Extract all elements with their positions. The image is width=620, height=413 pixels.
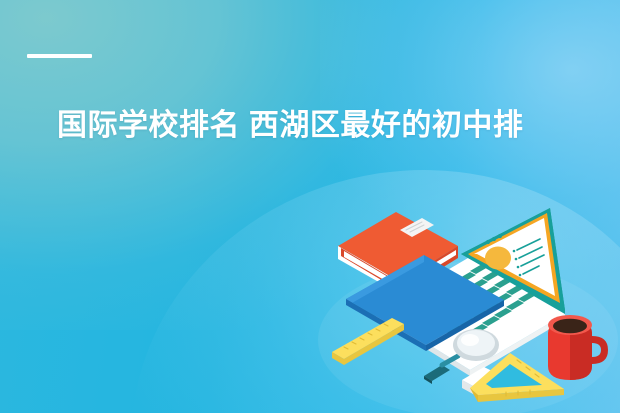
article-cover-banner: 国际学校排名 西湖区最好的初中排	[0, 0, 620, 413]
page-title: 国际学校排名 西湖区最好的初中排	[57, 106, 620, 146]
title-accent-rule	[27, 54, 92, 58]
education-illustration	[318, 190, 620, 413]
